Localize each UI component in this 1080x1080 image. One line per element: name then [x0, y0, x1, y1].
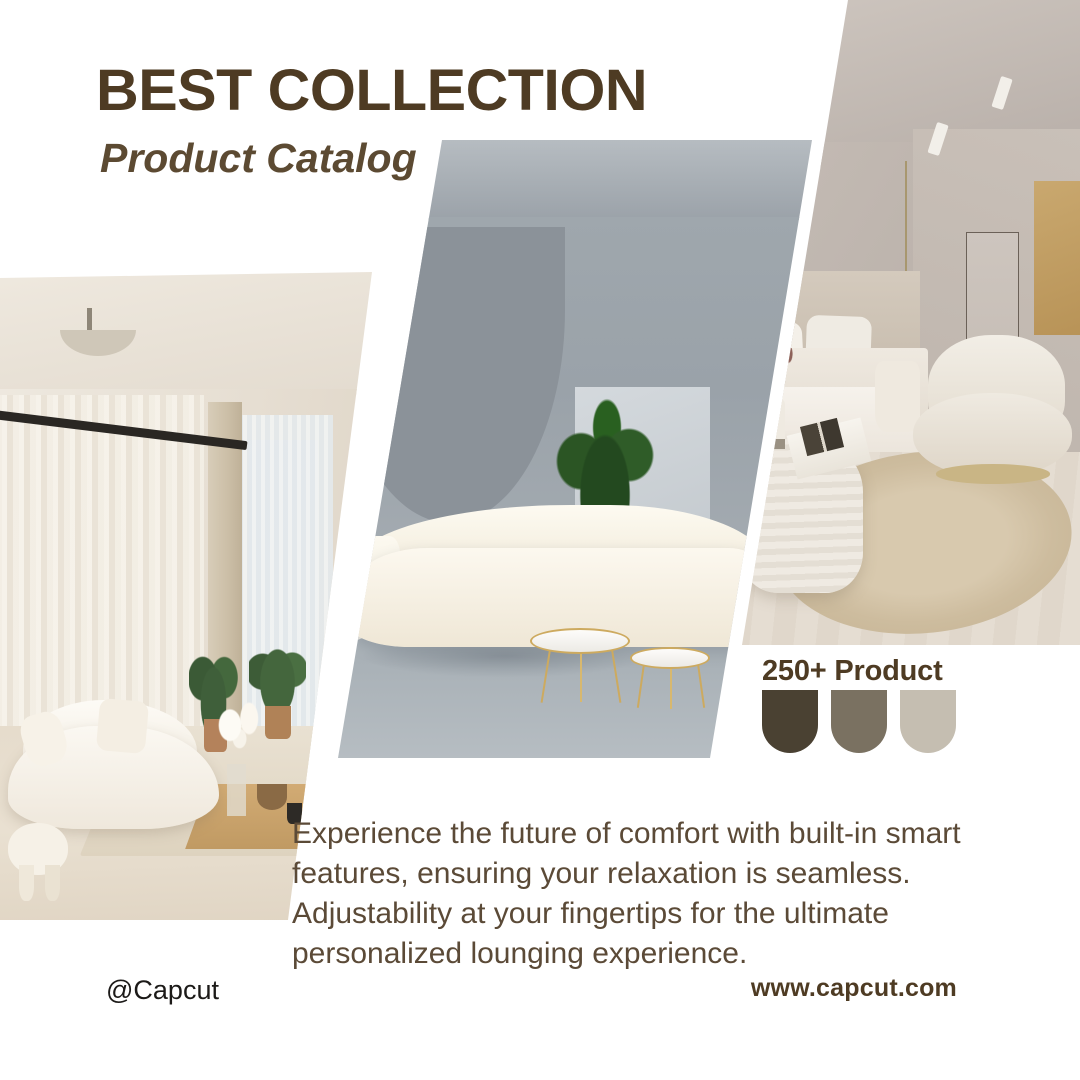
social-handle: @Capcut — [106, 975, 219, 1006]
side-table-leg — [670, 662, 672, 708]
marble-coffee-table-large — [530, 628, 630, 654]
stool-leg-2 — [45, 865, 60, 901]
color-swatch-dark-olive-brown[interactable] — [762, 690, 818, 753]
marble-coffee-table-small — [630, 647, 710, 669]
page-title: BEST COLLECTION — [96, 62, 647, 120]
color-swatch-light-greige[interactable] — [900, 690, 956, 753]
color-swatch-medium-taupe[interactable] — [831, 690, 887, 753]
product-catalog-poster: BEST COLLECTION Product Catalog — [0, 0, 1080, 1080]
grey-studio-scene — [320, 140, 820, 758]
vase-base — [761, 439, 786, 449]
cushion-2 — [96, 698, 149, 754]
gallery-image-grey-studio-sofa — [320, 140, 820, 758]
ceiling — [0, 272, 378, 395]
pendant-lamp-rod — [87, 308, 92, 332]
website-url[interactable]: www.capcut.com — [751, 974, 957, 1003]
chair-brass-base — [936, 464, 1050, 483]
product-count-label: 250+ Product — [762, 655, 943, 688]
glass-vase — [227, 764, 246, 816]
wall-art-panel — [1034, 181, 1080, 336]
coffee-table-leg — [580, 647, 582, 703]
description-paragraph: Experience the future of comfort with bu… — [292, 814, 964, 974]
stool-leg-1 — [19, 865, 34, 901]
small-pouf — [875, 361, 921, 432]
wooden-bowl — [257, 784, 287, 810]
page-subtitle: Product Catalog — [100, 138, 417, 179]
color-swatch-group — [762, 690, 956, 753]
